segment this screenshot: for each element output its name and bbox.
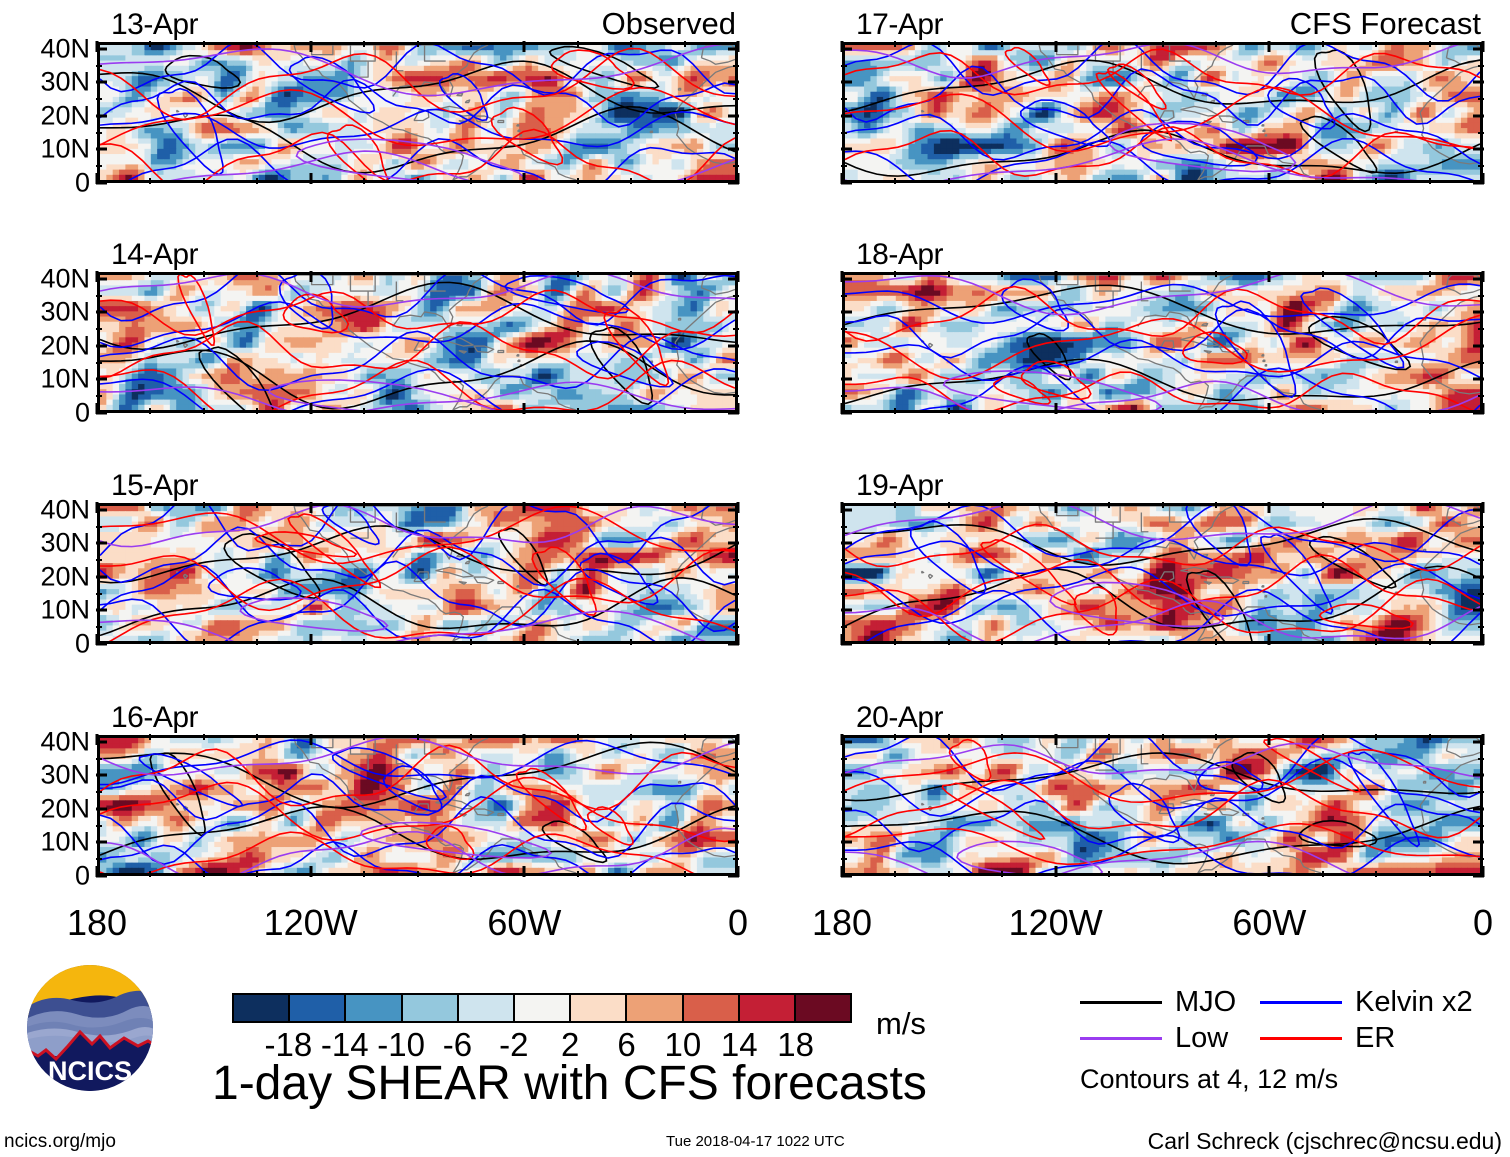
- x-minor-tick: [1162, 502, 1164, 508]
- x-minor-tick: [684, 871, 686, 877]
- y-tick-label: 30N: [12, 69, 90, 96]
- x-minor-tick: [470, 41, 472, 47]
- x-tick-mark: [1268, 866, 1271, 877]
- x-minor-tick: [1429, 408, 1431, 414]
- x-minor-tick: [1162, 639, 1164, 645]
- line-swatch-kelvin: [1260, 1001, 1342, 1004]
- x-minor-tick: [470, 734, 472, 740]
- x-tick-mark: [1268, 634, 1271, 645]
- y-minor-tick: [841, 825, 847, 827]
- x-tick-mark: [737, 734, 740, 745]
- y-minor-tick: [96, 98, 102, 100]
- x-minor-tick: [577, 871, 579, 877]
- y-tick-mark: [1473, 575, 1484, 578]
- colorbar: -18-14-10-6-226101418: [232, 993, 852, 1023]
- panel-date-label: 14-Apr: [111, 238, 198, 272]
- x-tick-mark: [96, 502, 99, 513]
- y-tick-mark: [1473, 378, 1484, 381]
- y-tick-mark: [1473, 807, 1484, 810]
- x-minor-tick: [948, 408, 950, 414]
- x-tick-mark: [1482, 403, 1485, 414]
- y-tick-mark: [728, 609, 739, 612]
- map-panel-16-apr: 16-Apr 40N30N20N10N0: [97, 735, 738, 876]
- map-frame: [97, 503, 738, 644]
- x-tick-mark: [737, 41, 740, 52]
- x-axis-tick-label: 0: [728, 902, 748, 944]
- y-minor-tick: [96, 791, 102, 793]
- x-minor-tick: [577, 178, 579, 184]
- y-minor-tick: [841, 593, 847, 595]
- shaded-field: [845, 45, 1480, 180]
- map-field: [100, 45, 735, 180]
- x-tick-mark: [1482, 866, 1485, 877]
- x-minor-tick: [684, 408, 686, 414]
- x-minor-tick: [894, 178, 896, 184]
- x-tick-mark: [1268, 502, 1271, 513]
- x-tick-mark: [523, 173, 526, 184]
- y-minor-tick: [733, 132, 739, 134]
- x-tick-mark: [737, 634, 740, 645]
- logo-url-text: ncics.org/mjo: [4, 1131, 116, 1153]
- x-minor-tick: [363, 178, 365, 184]
- y-minor-tick: [96, 626, 102, 628]
- x-minor-tick: [203, 178, 205, 184]
- x-tick-mark: [1482, 634, 1485, 645]
- y-tick-mark: [841, 774, 852, 777]
- y-tick-label: 30N: [12, 762, 90, 789]
- y-minor-tick: [96, 526, 102, 528]
- x-tick-mark: [96, 271, 99, 282]
- x-minor-tick: [417, 639, 419, 645]
- x-tick-mark: [737, 271, 740, 282]
- y-minor-tick: [96, 593, 102, 595]
- x-minor-tick: [1215, 41, 1217, 47]
- x-minor-tick: [1375, 734, 1377, 740]
- y-tick-label: 20N: [12, 563, 90, 590]
- y-minor-tick: [733, 98, 739, 100]
- x-minor-tick: [1162, 271, 1164, 277]
- x-minor-tick: [470, 178, 472, 184]
- map-panel-13-apr: 13-AprObserved 40N30N20N10N0: [97, 42, 738, 183]
- x-minor-tick: [417, 502, 419, 508]
- map-field: [100, 506, 735, 641]
- y-tick-mark: [841, 114, 852, 117]
- y-tick-mark: [841, 378, 852, 381]
- x-axis-tick-label: 60W: [1232, 902, 1306, 944]
- x-minor-tick: [577, 408, 579, 414]
- x-minor-tick: [417, 271, 419, 277]
- y-tick-mark: [841, 575, 852, 578]
- x-minor-tick: [1322, 502, 1324, 508]
- y-minor-tick: [96, 165, 102, 167]
- x-minor-tick: [577, 734, 579, 740]
- x-minor-tick: [684, 271, 686, 277]
- x-tick-mark: [1054, 866, 1057, 877]
- x-minor-tick: [1001, 502, 1003, 508]
- y-minor-tick: [96, 362, 102, 364]
- y-tick-mark: [728, 575, 739, 578]
- x-minor-tick: [203, 408, 205, 414]
- y-minor-tick: [733, 395, 739, 397]
- x-minor-tick: [630, 408, 632, 414]
- map-panel-18-apr: 18-Apr: [842, 272, 1483, 413]
- x-minor-tick: [149, 734, 151, 740]
- y-minor-tick: [733, 526, 739, 528]
- y-tick-mark: [96, 378, 107, 381]
- panel-date-label: 19-Apr: [856, 469, 943, 503]
- x-tick-mark: [523, 41, 526, 52]
- x-minor-tick: [1375, 639, 1377, 645]
- x-minor-tick: [1429, 178, 1431, 184]
- y-minor-tick: [841, 758, 847, 760]
- y-minor-tick: [841, 98, 847, 100]
- x-minor-tick: [256, 502, 258, 508]
- colorbar-swatch: [682, 995, 738, 1021]
- x-minor-tick: [363, 408, 365, 414]
- x-minor-tick: [363, 639, 365, 645]
- map-frame: [842, 272, 1483, 413]
- x-minor-tick: [894, 271, 896, 277]
- legend-row: Low ER: [1080, 1020, 1500, 1056]
- x-minor-tick: [203, 271, 205, 277]
- y-tick-mark: [96, 542, 107, 545]
- y-tick-mark: [841, 609, 852, 612]
- x-minor-tick: [470, 502, 472, 508]
- x-minor-tick: [149, 502, 151, 508]
- y-tick-label: 20N: [12, 102, 90, 129]
- x-minor-tick: [630, 639, 632, 645]
- y-tick-label: 10N: [12, 829, 90, 856]
- x-minor-tick: [630, 502, 632, 508]
- y-minor-tick: [841, 165, 847, 167]
- x-minor-tick: [1322, 41, 1324, 47]
- x-tick-mark: [309, 403, 312, 414]
- x-minor-tick: [684, 734, 686, 740]
- x-minor-tick: [948, 271, 950, 277]
- map-field: [845, 275, 1480, 410]
- y-tick-mark: [728, 148, 739, 151]
- shaded-field: [100, 275, 735, 410]
- y-tick-label: 30N: [12, 530, 90, 557]
- x-minor-tick: [948, 871, 950, 877]
- map-field: [100, 738, 735, 873]
- x-minor-tick: [894, 502, 896, 508]
- map-frame: [97, 42, 738, 183]
- x-minor-tick: [630, 734, 632, 740]
- colorbar-swatch: [234, 995, 288, 1021]
- x-tick-mark: [1482, 502, 1485, 513]
- colorbar-swatch: [401, 995, 457, 1021]
- panel-date-label: 18-Apr: [856, 238, 943, 272]
- x-minor-tick: [417, 734, 419, 740]
- y-tick-mark: [728, 114, 739, 117]
- map-frame: [842, 735, 1483, 876]
- x-axis-tick-label: 180: [812, 902, 872, 944]
- x-axis-tick-label: 120W: [264, 902, 358, 944]
- line-swatch-mjo: [1080, 1001, 1162, 1004]
- column-title-observed: Observed: [602, 6, 736, 42]
- x-axis-tick-label: 180: [67, 902, 127, 944]
- x-minor-tick: [417, 178, 419, 184]
- y-tick-mark: [1473, 81, 1484, 84]
- y-minor-tick: [1478, 65, 1484, 67]
- map-frame: [97, 272, 738, 413]
- x-minor-tick: [149, 871, 151, 877]
- colorbar-swatch: [738, 995, 794, 1021]
- x-minor-tick: [1375, 271, 1377, 277]
- x-minor-tick: [1322, 408, 1324, 414]
- contour-note: Contours at 4, 12 m/s: [1080, 1064, 1338, 1095]
- x-minor-tick: [1001, 41, 1003, 47]
- x-minor-tick: [1162, 178, 1164, 184]
- footer-author: Carl Schreck (cjschrec@ncsu.edu): [1148, 1128, 1502, 1155]
- y-tick-mark: [728, 807, 739, 810]
- x-minor-tick: [1322, 734, 1324, 740]
- panel-date-label: 17-Apr: [856, 8, 943, 42]
- x-tick-mark: [523, 403, 526, 414]
- x-tick-mark: [841, 866, 844, 877]
- y-minor-tick: [96, 65, 102, 67]
- x-minor-tick: [1108, 271, 1110, 277]
- y-minor-tick: [96, 328, 102, 330]
- x-minor-tick: [1429, 41, 1431, 47]
- map-panel-20-apr: 20-Apr: [842, 735, 1483, 876]
- y-tick-mark: [728, 378, 739, 381]
- x-tick-mark: [841, 271, 844, 282]
- x-minor-tick: [1001, 178, 1003, 184]
- x-tick-mark: [1054, 734, 1057, 745]
- x-minor-tick: [149, 178, 151, 184]
- x-tick-mark: [737, 866, 740, 877]
- y-minor-tick: [841, 362, 847, 364]
- x-tick-mark: [841, 634, 844, 645]
- x-minor-tick: [203, 502, 205, 508]
- x-tick-mark: [96, 634, 99, 645]
- footer-timestamp: Tue 2018-04-17 1022 UTC: [666, 1133, 845, 1150]
- colorbar-swatch: [625, 995, 681, 1021]
- x-minor-tick: [684, 178, 686, 184]
- y-tick-mark: [728, 81, 739, 84]
- x-minor-tick: [1162, 41, 1164, 47]
- column-title-forecast: CFS Forecast: [1290, 6, 1481, 42]
- colorbar-swatches: [232, 993, 852, 1023]
- y-tick-mark: [841, 344, 852, 347]
- x-minor-tick: [1215, 408, 1217, 414]
- map-field: [845, 738, 1480, 873]
- y-tick-mark: [96, 148, 107, 151]
- line-swatch-er: [1260, 1037, 1342, 1040]
- x-minor-tick: [1162, 734, 1164, 740]
- contour-legend: MJO Kelvin x2 Low ER: [1080, 984, 1500, 1056]
- y-tick-mark: [96, 774, 107, 777]
- x-minor-tick: [1001, 639, 1003, 645]
- y-tick-mark: [96, 344, 107, 347]
- y-tick-mark: [728, 542, 739, 545]
- colorbar-swatch: [344, 995, 400, 1021]
- colorbar-swatch: [457, 995, 513, 1021]
- y-minor-tick: [733, 593, 739, 595]
- x-minor-tick: [149, 271, 151, 277]
- x-minor-tick: [1001, 734, 1003, 740]
- x-minor-tick: [684, 639, 686, 645]
- x-tick-mark: [96, 173, 99, 184]
- y-tick-label: 20N: [12, 795, 90, 822]
- y-tick-mark: [841, 807, 852, 810]
- x-minor-tick: [948, 178, 950, 184]
- y-tick-mark: [96, 841, 107, 844]
- x-minor-tick: [1215, 271, 1217, 277]
- colorbar-swatch: [569, 995, 625, 1021]
- y-tick-mark: [96, 81, 107, 84]
- legend-row: MJO Kelvin x2: [1080, 984, 1500, 1020]
- x-minor-tick: [1108, 408, 1110, 414]
- x-tick-mark: [1268, 41, 1271, 52]
- x-tick-mark: [1268, 734, 1271, 745]
- y-minor-tick: [96, 132, 102, 134]
- y-minor-tick: [841, 858, 847, 860]
- x-tick-mark: [1482, 173, 1485, 184]
- x-minor-tick: [363, 871, 365, 877]
- x-minor-tick: [1429, 271, 1431, 277]
- x-tick-mark: [523, 502, 526, 513]
- x-minor-tick: [1429, 734, 1431, 740]
- y-tick-mark: [96, 609, 107, 612]
- y-minor-tick: [841, 328, 847, 330]
- x-minor-tick: [1322, 178, 1324, 184]
- y-minor-tick: [733, 791, 739, 793]
- map-frame: [842, 503, 1483, 644]
- x-minor-tick: [256, 639, 258, 645]
- x-minor-tick: [1108, 734, 1110, 740]
- legend-label-mjo: MJO: [1175, 986, 1236, 1019]
- y-minor-tick: [1478, 165, 1484, 167]
- y-minor-tick: [1478, 132, 1484, 134]
- y-tick-mark: [1473, 542, 1484, 545]
- x-tick-mark: [1268, 403, 1271, 414]
- x-tick-mark: [1482, 41, 1485, 52]
- x-minor-tick: [948, 734, 950, 740]
- x-tick-mark: [309, 173, 312, 184]
- x-minor-tick: [1322, 871, 1324, 877]
- x-tick-mark: [1054, 271, 1057, 282]
- y-tick-mark: [841, 311, 852, 314]
- y-tick-mark: [1473, 344, 1484, 347]
- y-tick-mark: [728, 774, 739, 777]
- x-minor-tick: [203, 871, 205, 877]
- y-minor-tick: [96, 858, 102, 860]
- y-minor-tick: [841, 791, 847, 793]
- y-tick-mark: [1473, 114, 1484, 117]
- x-minor-tick: [417, 871, 419, 877]
- x-tick-mark: [841, 734, 844, 745]
- map-panel-19-apr: 19-Apr: [842, 503, 1483, 644]
- y-minor-tick: [1478, 858, 1484, 860]
- x-tick-mark: [96, 41, 99, 52]
- x-minor-tick: [1375, 408, 1377, 414]
- x-minor-tick: [630, 41, 632, 47]
- legend-label-low: Low: [1175, 1022, 1228, 1055]
- y-minor-tick: [841, 626, 847, 628]
- x-minor-tick: [1429, 502, 1431, 508]
- x-minor-tick: [577, 41, 579, 47]
- x-tick-mark: [841, 41, 844, 52]
- panel-date-label: 20-Apr: [856, 701, 943, 735]
- x-minor-tick: [1429, 639, 1431, 645]
- x-minor-tick: [149, 639, 151, 645]
- y-tick-label: 10N: [12, 136, 90, 163]
- map-field: [845, 506, 1480, 641]
- y-minor-tick: [733, 165, 739, 167]
- x-tick-mark: [523, 734, 526, 745]
- y-tick-label: 0: [12, 631, 90, 658]
- legend-label-kelvin: Kelvin x2: [1355, 986, 1473, 1019]
- ncics-logo: NCICS: [24, 962, 156, 1099]
- y-minor-tick: [96, 758, 102, 760]
- x-tick-mark: [841, 403, 844, 414]
- x-tick-mark: [96, 734, 99, 745]
- x-tick-mark: [96, 866, 99, 877]
- y-minor-tick: [96, 395, 102, 397]
- x-tick-mark: [841, 502, 844, 513]
- y-tick-mark: [841, 542, 852, 545]
- colorbar-unit-label: m/s: [876, 1006, 926, 1042]
- y-minor-tick: [733, 758, 739, 760]
- x-tick-mark: [1268, 271, 1271, 282]
- x-minor-tick: [577, 271, 579, 277]
- x-tick-mark: [309, 866, 312, 877]
- y-tick-mark: [96, 575, 107, 578]
- y-tick-label: 20N: [12, 332, 90, 359]
- x-tick-mark: [309, 734, 312, 745]
- map-panel-15-apr: 15-Apr 40N30N20N10N0: [97, 503, 738, 644]
- x-minor-tick: [149, 41, 151, 47]
- x-minor-tick: [203, 41, 205, 47]
- x-minor-tick: [1375, 41, 1377, 47]
- legend-item-kelvin: Kelvin x2: [1260, 986, 1473, 1019]
- colorbar-swatch: [288, 995, 344, 1021]
- x-minor-tick: [1215, 178, 1217, 184]
- x-minor-tick: [256, 734, 258, 740]
- x-minor-tick: [894, 871, 896, 877]
- y-minor-tick: [1478, 526, 1484, 528]
- x-tick-mark: [523, 634, 526, 645]
- y-minor-tick: [1478, 758, 1484, 760]
- x-minor-tick: [417, 41, 419, 47]
- x-minor-tick: [1108, 639, 1110, 645]
- x-minor-tick: [948, 41, 950, 47]
- panel-date-label: 16-Apr: [111, 701, 198, 735]
- x-minor-tick: [1375, 178, 1377, 184]
- y-tick-label: 0: [12, 400, 90, 427]
- x-axis-tick-label: 60W: [487, 902, 561, 944]
- y-minor-tick: [1478, 626, 1484, 628]
- map-panel-17-apr: 17-AprCFS Forecast: [842, 42, 1483, 183]
- colorbar-swatch: [794, 995, 850, 1021]
- x-minor-tick: [948, 639, 950, 645]
- y-minor-tick: [96, 825, 102, 827]
- y-minor-tick: [841, 395, 847, 397]
- x-minor-tick: [1001, 408, 1003, 414]
- y-tick-mark: [841, 841, 852, 844]
- x-tick-mark: [1054, 41, 1057, 52]
- x-minor-tick: [1429, 871, 1431, 877]
- y-tick-mark: [728, 841, 739, 844]
- y-minor-tick: [841, 132, 847, 134]
- x-tick-mark: [309, 41, 312, 52]
- x-minor-tick: [1108, 178, 1110, 184]
- y-tick-label: 40N: [12, 35, 90, 62]
- y-tick-mark: [841, 81, 852, 84]
